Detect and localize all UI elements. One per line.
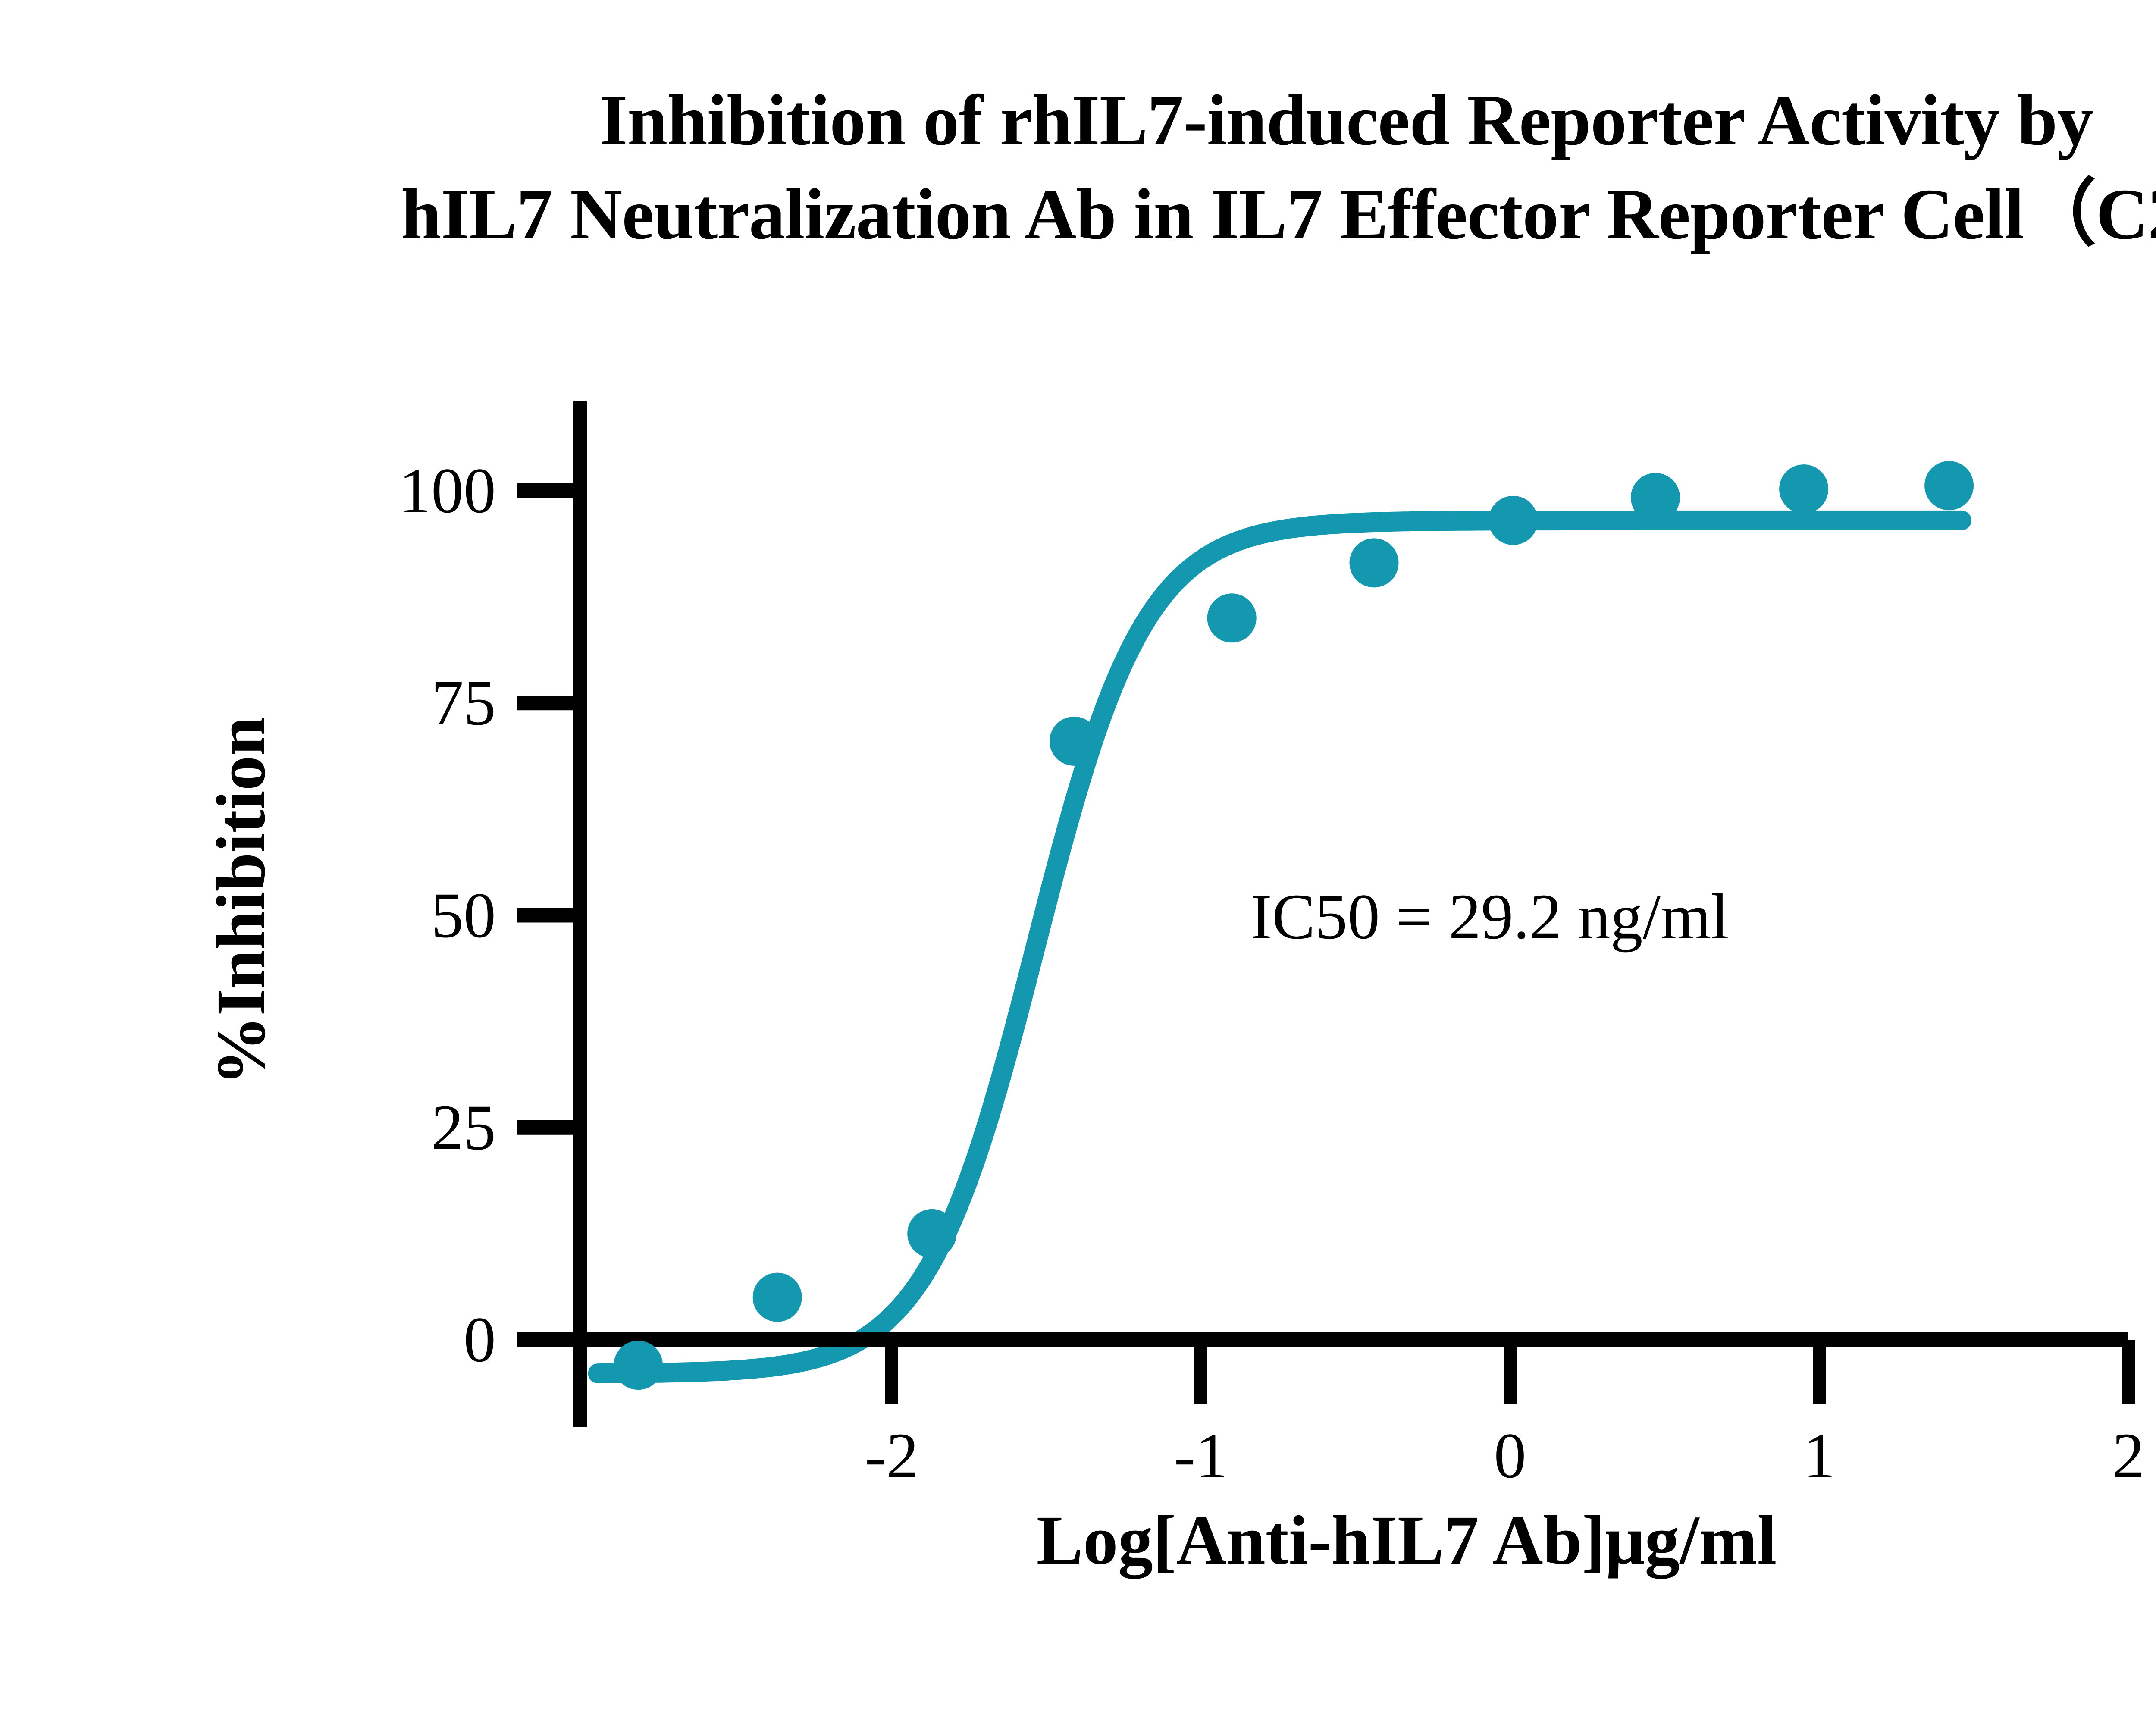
data-point [1631, 473, 1680, 522]
data-point [1924, 461, 1974, 510]
x-tick-label-2: 2 [2112, 1419, 2145, 1493]
x-tick-label-1: 1 [1803, 1419, 1836, 1493]
x-tick-label-0: 0 [1494, 1419, 1526, 1493]
x-tick-label--2: -2 [865, 1419, 919, 1493]
y-tick-label-50: 50 [302, 878, 496, 953]
y-tick-label-0: 0 [302, 1303, 496, 1377]
data-point [614, 1341, 663, 1390]
x-tick-label--1: -1 [1174, 1419, 1228, 1493]
x-axis-title: Log[Anti-hIL7 Ab]μg/ml [0, 1501, 2156, 1581]
chart-figure: Inhibition of rhIL7-induced Reporter Act… [0, 0, 2156, 1711]
y-tick-marks [517, 491, 580, 1340]
data-point [1779, 464, 1828, 514]
data-point [753, 1273, 802, 1322]
data-point [1207, 593, 1257, 642]
data-point [1350, 538, 1399, 587]
x-tick-marks [892, 1340, 2128, 1404]
data-point [1489, 496, 1538, 545]
y-tick-label-75: 75 [302, 666, 496, 740]
y-tick-label-25: 25 [302, 1091, 496, 1165]
y-axis-title: %Inhibition [201, 717, 282, 1085]
data-point [1050, 717, 1099, 766]
data-point [907, 1209, 956, 1258]
y-tick-label-100: 100 [302, 454, 496, 528]
ic50-annotation: IC50 = 29.2 ng/ml [1250, 880, 1729, 954]
